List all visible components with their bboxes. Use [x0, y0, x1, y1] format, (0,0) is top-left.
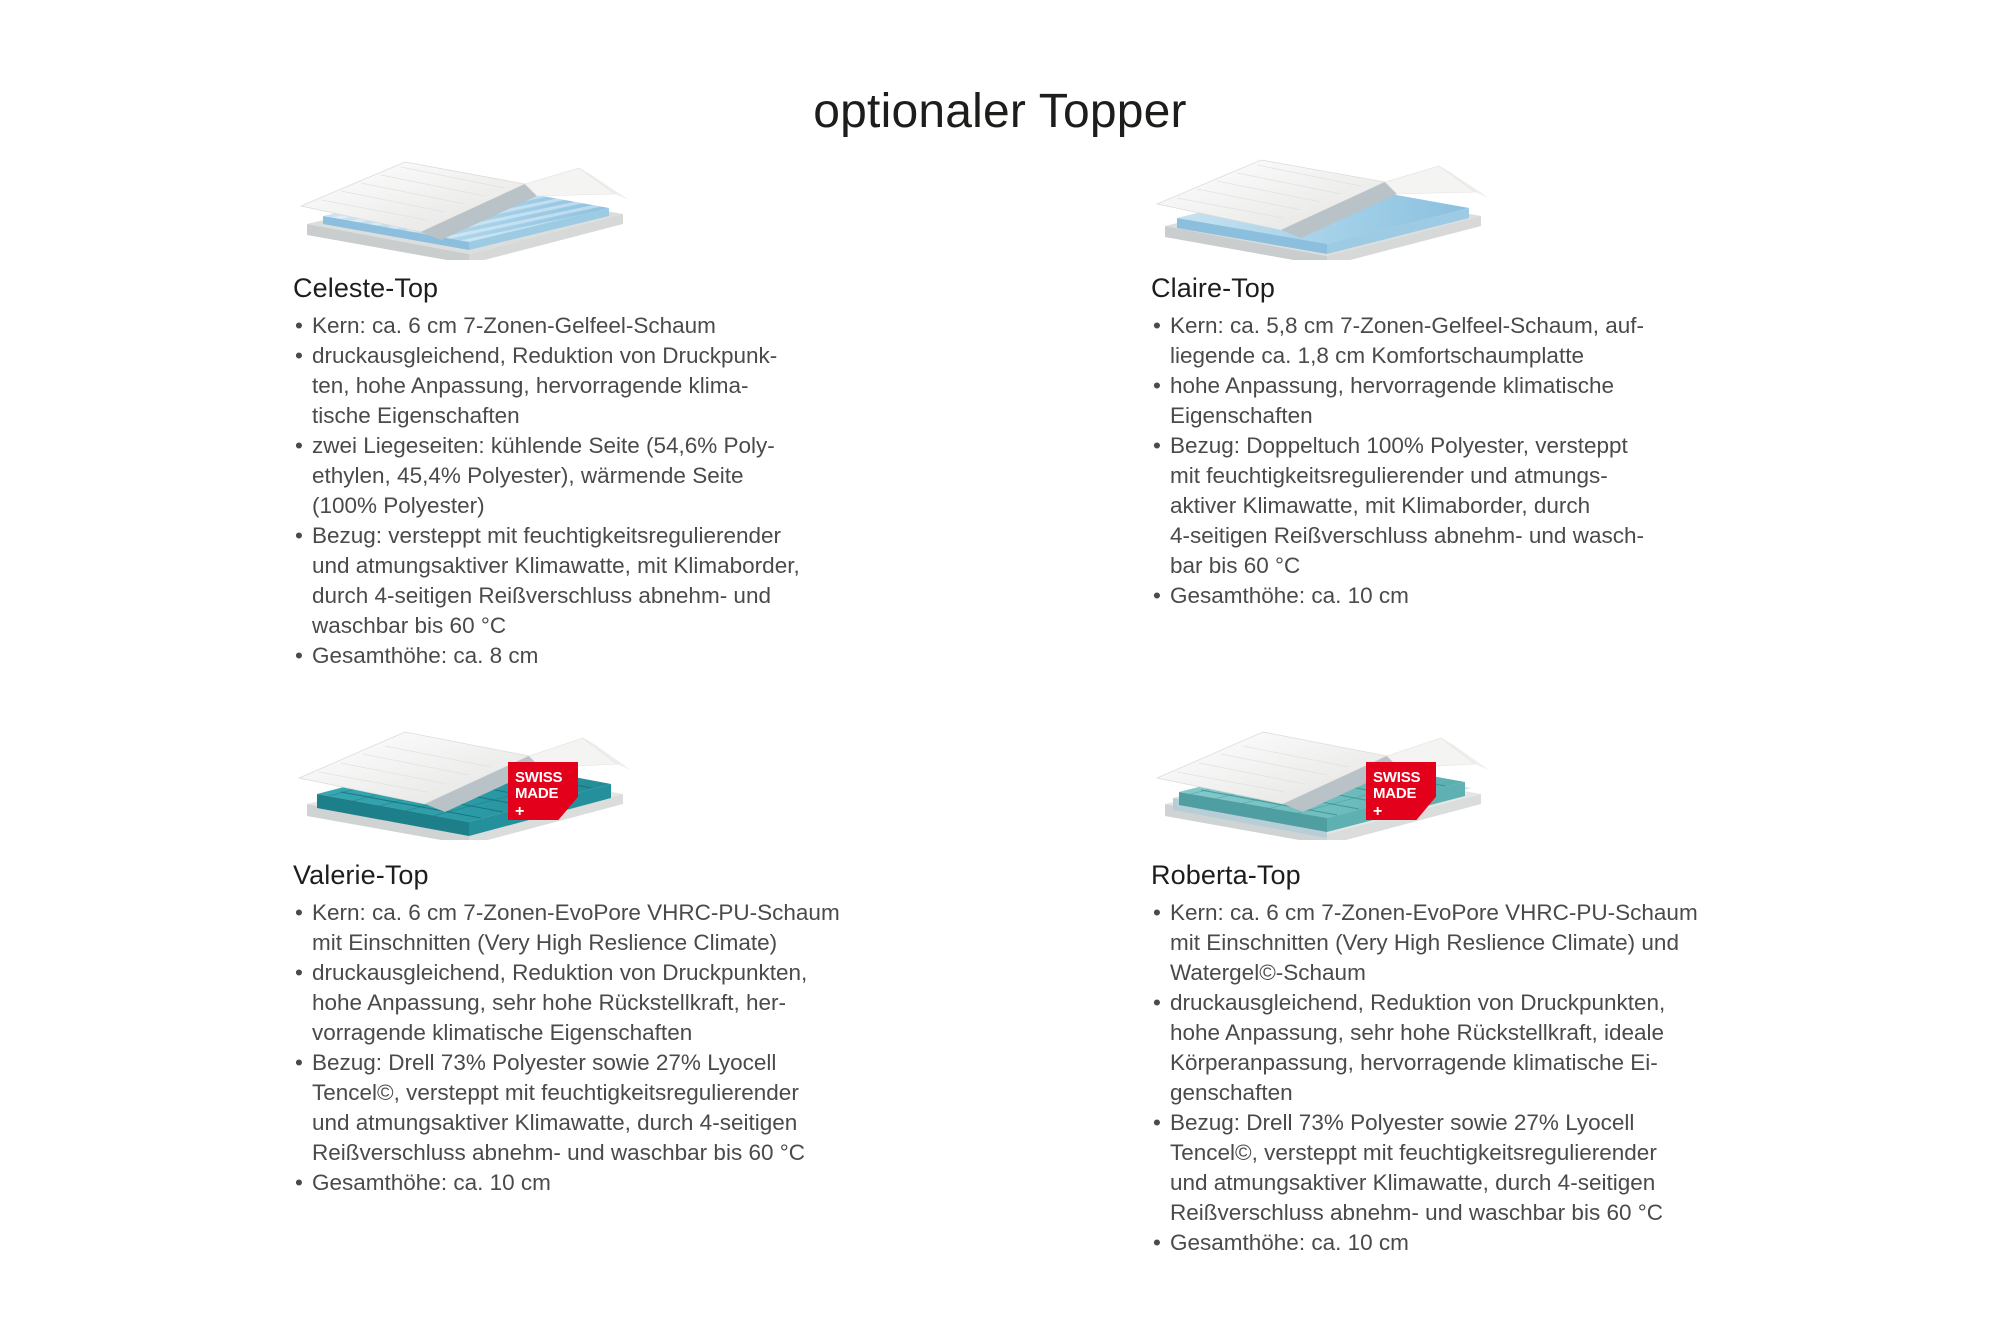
- spec-item: •Bezug: Doppeltuch 100% Polyester, verst…: [1151, 431, 1751, 581]
- product-spec-list: •Kern: ca. 5,8 cm 7-Zonen-Gelfeel-Schaum…: [1151, 311, 1751, 610]
- bullet-icon: •: [1153, 988, 1161, 1018]
- bullet-icon: •: [1153, 371, 1161, 401]
- bullet-icon: •: [1153, 1108, 1161, 1138]
- bullet-icon: •: [295, 958, 303, 988]
- product-image-valerie-top: SWISS MADE +: [293, 712, 893, 847]
- mattress-topper-icon: [1151, 712, 1491, 840]
- badge-line-2: MADE: [1373, 786, 1436, 801]
- product-title: Celeste-Top: [293, 272, 893, 304]
- spec-item: •druckausgleichend, Reduktion von Druckp…: [293, 958, 893, 1048]
- spec-item: •Kern: ca. 5,8 cm 7-Zonen-Gelfeel-Schaum…: [1151, 311, 1751, 371]
- bullet-icon: •: [295, 431, 303, 461]
- spec-item: •Kern: ca. 6 cm 7-Zonen-EvoPore VHRC-PU-…: [293, 898, 893, 958]
- bullet-icon: •: [295, 311, 303, 341]
- bullet-icon: •: [295, 641, 303, 671]
- badge-line-1: SWISS: [1373, 770, 1436, 785]
- spec-item: •Bezug: Drell 73% Polyester sowie 27% Ly…: [293, 1048, 893, 1168]
- bullet-icon: •: [1153, 1228, 1161, 1258]
- spec-item: •Gesamthöhe: ca. 10 cm: [1151, 1228, 1751, 1258]
- spec-item: •Kern: ca. 6 cm 7-Zonen-EvoPore VHRC-PU-…: [1151, 898, 1751, 988]
- bullet-icon: •: [295, 1048, 303, 1078]
- spec-item: •Gesamthöhe: ca. 8 cm: [293, 641, 893, 671]
- bullet-icon: •: [295, 1168, 303, 1198]
- bullet-icon: •: [1153, 431, 1161, 461]
- product-card-celeste-top[interactable]: Celeste-Top •Kern: ca. 6 cm 7-Zonen-Gelf…: [293, 140, 893, 670]
- spec-item: •hohe Anpassung, hervorragende klimatisc…: [1151, 371, 1751, 431]
- product-image-claire-top: [1151, 140, 1751, 260]
- bullet-icon: •: [1153, 311, 1161, 341]
- mattress-topper-icon: [1151, 140, 1491, 260]
- page-title: optionaler Topper: [0, 84, 2000, 139]
- product-card-roberta-top[interactable]: SWISS MADE + Roberta-Top •Kern: ca. 6 cm…: [1151, 712, 1751, 1257]
- product-title: Valerie-Top: [293, 859, 893, 891]
- spec-item: •Gesamthöhe: ca. 10 cm: [1151, 581, 1751, 611]
- product-spec-list: •Kern: ca. 6 cm 7-Zonen-EvoPore VHRC-PU-…: [293, 898, 893, 1197]
- bullet-icon: •: [295, 521, 303, 551]
- spec-item: •zwei Liegeseiten: kühlende Seite (54,6%…: [293, 431, 893, 521]
- spec-item: •druckausgleichend, Reduktion von Druckp…: [1151, 988, 1751, 1108]
- mattress-topper-icon: [293, 712, 633, 840]
- bullet-icon: •: [295, 898, 303, 928]
- bullet-icon: •: [1153, 581, 1161, 611]
- spec-item: •Kern: ca. 6 cm 7-Zonen-Gelfeel-Schaum: [293, 311, 893, 341]
- mattress-topper-icon: [293, 140, 633, 260]
- product-image-roberta-top: SWISS MADE +: [1151, 712, 1751, 847]
- product-card-valerie-top[interactable]: SWISS MADE + Valerie-Top •Kern: ca. 6 cm…: [293, 712, 893, 1198]
- product-title: Roberta-Top: [1151, 859, 1751, 891]
- bullet-icon: •: [1153, 898, 1161, 928]
- product-card-claire-top[interactable]: Claire-Top •Kern: ca. 5,8 cm 7-Zonen-Gel…: [1151, 140, 1751, 611]
- product-title: Claire-Top: [1151, 272, 1751, 304]
- spec-item: •Bezug: Drell 73% Polyester sowie 27% Ly…: [1151, 1108, 1751, 1228]
- topper-overview-page: optionaler Topper: [0, 0, 2000, 1333]
- badge-line-2: MADE: [515, 786, 578, 801]
- product-image-celeste-top: [293, 140, 893, 260]
- spec-item: •druckausgleichend, Reduktion von Druckp…: [293, 341, 893, 431]
- bullet-icon: •: [295, 341, 303, 371]
- product-spec-list: •Kern: ca. 6 cm 7-Zonen-EvoPore VHRC-PU-…: [1151, 898, 1751, 1257]
- badge-line-1: SWISS: [515, 770, 578, 785]
- spec-item: •Gesamthöhe: ca. 10 cm: [293, 1168, 893, 1198]
- product-spec-list: •Kern: ca. 6 cm 7-Zonen-Gelfeel-Schaum •…: [293, 311, 893, 670]
- spec-item: •Bezug: versteppt mit feuchtigkeitsregul…: [293, 521, 893, 641]
